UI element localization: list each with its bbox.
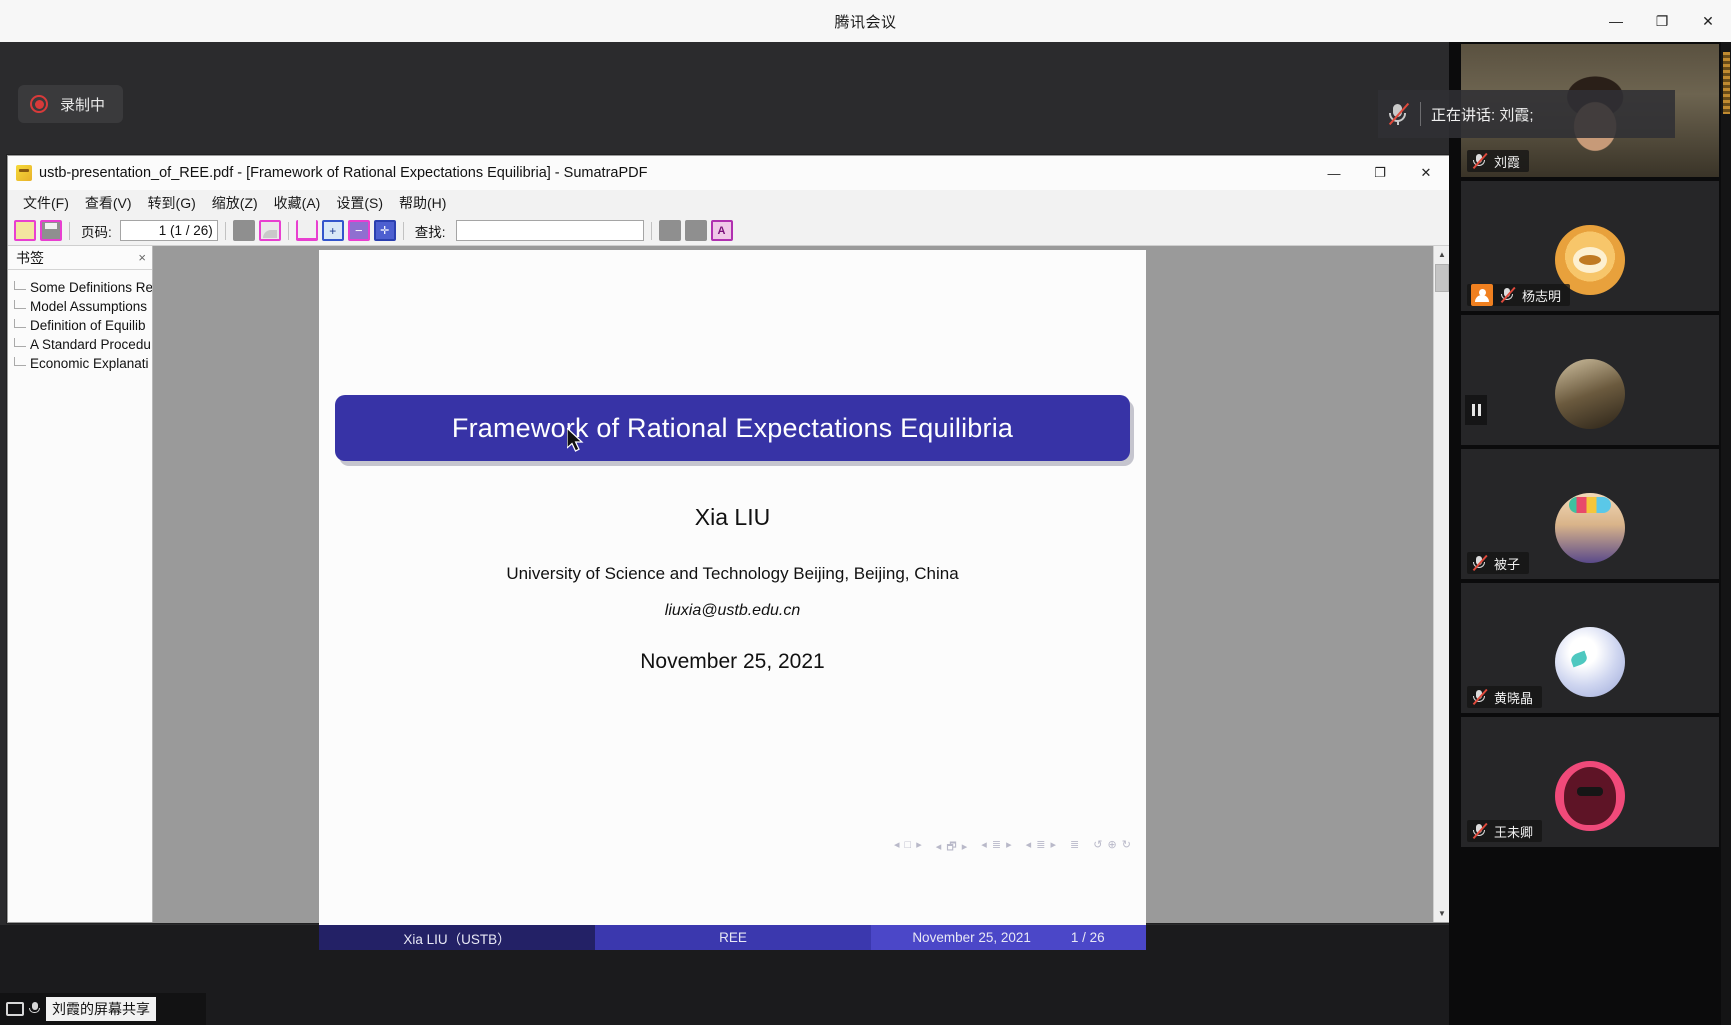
bookmark-item[interactable]: Definition of Equilib xyxy=(8,316,152,335)
mouse-cursor-icon xyxy=(567,428,587,456)
bookmark-item[interactable]: Some Definitions Re xyxy=(8,278,152,297)
bookmarks-header: 书签 × xyxy=(8,246,152,270)
active-speaker-banner: 正在讲话: 刘霞; xyxy=(1378,90,1675,138)
menu-settings[interactable]: 设置(S) xyxy=(329,190,390,216)
mic-muted-icon xyxy=(1471,822,1488,840)
slide-affiliation: University of Science and Technology Bei… xyxy=(319,564,1146,584)
zoom-out-icon[interactable] xyxy=(348,220,370,241)
zoom-in-icon[interactable] xyxy=(374,220,396,241)
find-next-icon[interactable] xyxy=(685,220,707,241)
slide-footer: Xia LIU（USTB） REE November 25, 2021 1 / … xyxy=(319,925,1146,950)
menu-view[interactable]: 查看(V) xyxy=(78,190,139,216)
record-dot-icon xyxy=(30,95,48,113)
mic-muted-icon xyxy=(1471,554,1488,572)
page-number-input[interactable]: 1 (1 / 26) xyxy=(120,220,218,241)
participant-strip[interactable]: 刘霞 杨志明 被子 xyxy=(1449,42,1731,1025)
pdf-window-title: ustb-presentation_of_REE.pdf - [Framewor… xyxy=(39,165,647,181)
slide-date: November 25, 2021 xyxy=(319,650,1146,674)
bookmark-label: Economic Explanati xyxy=(30,356,149,371)
pdf-body: 书签 × Some Definitions Re Model Assumptio… xyxy=(8,246,1449,922)
bookmark-item[interactable]: A Standard Procedu xyxy=(8,335,152,354)
close-icon[interactable]: × xyxy=(138,250,146,265)
mic-muted-icon xyxy=(1499,286,1516,304)
menu-file[interactable]: 文件(F) xyxy=(16,190,76,216)
participant-name-chip: 黄晓晶 xyxy=(1467,686,1542,708)
participant-name-chip: 刘霞 xyxy=(1467,150,1529,172)
bookmark-label: Definition of Equilib xyxy=(30,318,146,333)
slide-footer-author: Xia LIU（USTB） xyxy=(319,925,595,950)
meeting-minimize-button[interactable]: — xyxy=(1593,0,1639,42)
scrollbar-thumb[interactable] xyxy=(1723,52,1730,114)
participant-name: 刘霞 xyxy=(1494,152,1520,171)
meeting-maximize-button[interactable]: ❐ xyxy=(1639,0,1685,42)
menu-favorites[interactable]: 收藏(A) xyxy=(267,190,328,216)
find-prev-icon[interactable] xyxy=(659,220,681,241)
pdf-titlebar[interactable]: ustb-presentation_of_REE.pdf - [Framewor… xyxy=(8,156,1449,190)
sumatrapdf-window: ustb-presentation_of_REE.pdf - [Framewor… xyxy=(7,155,1450,923)
tree-branch-icon xyxy=(14,357,26,366)
single-page-icon[interactable] xyxy=(259,220,281,241)
avatar xyxy=(1555,493,1625,563)
avatar xyxy=(1555,359,1625,429)
slide-footer-right: November 25, 2021 1 / 26 xyxy=(871,925,1146,950)
pdf-document-viewport[interactable]: Framework of Rational Expectations Equil… xyxy=(153,246,1449,922)
document-scrollbar[interactable]: ▲ ▼ xyxy=(1433,246,1449,922)
slide-footer-page: 1 / 26 xyxy=(1071,930,1105,945)
nav-glyph-back-icon[interactable]: ≣ xyxy=(1070,838,1080,857)
screen-share-label: 刘霞的屏幕共享 xyxy=(46,997,156,1021)
slide-title-text: Framework of Rational Expectations Equil… xyxy=(452,413,1013,444)
menu-help[interactable]: 帮助(H) xyxy=(392,190,453,216)
toolbar-divider xyxy=(403,222,404,240)
pdf-close-button[interactable]: ✕ xyxy=(1403,156,1449,190)
open-file-icon[interactable] xyxy=(14,220,36,241)
pdf-window-controls: — ❐ ✕ xyxy=(1311,156,1449,190)
pdf-maximize-button[interactable]: ❐ xyxy=(1357,156,1403,190)
screen-root: 腾讯会议 — ❐ ✕ 录制中 正在讲话: 刘霞; ustb-presentati… xyxy=(0,0,1731,1025)
avatar xyxy=(1555,761,1625,831)
participant-name: 王未卿 xyxy=(1494,822,1533,841)
toolbar-divider xyxy=(225,222,226,240)
participant-name: 被子 xyxy=(1494,554,1520,573)
participant-tile[interactable]: 杨志明 xyxy=(1461,181,1719,311)
save-file-icon[interactable] xyxy=(40,220,62,241)
pdf-page: Framework of Rational Expectations Equil… xyxy=(319,250,1146,950)
beamer-nav-icons[interactable]: ◂ □ ▸ ◂ 🗗 ▸ ◂ ≣ ▸ ◂ ≣ ▸ ≣ ↺ ⊕ ↻ xyxy=(894,838,1132,857)
divider xyxy=(1420,102,1421,126)
participant-tile[interactable]: 王未卿 xyxy=(1461,717,1719,847)
participant-tile[interactable]: 被子 xyxy=(1461,449,1719,579)
participant-scrollbar[interactable] xyxy=(1721,42,1731,1025)
participant-tile[interactable]: 黄晓晶 xyxy=(1461,583,1719,713)
nav-glyph-frame-icon[interactable]: ◂ □ ▸ xyxy=(894,838,923,857)
host-icon xyxy=(1471,284,1493,306)
scrollbar-thumb[interactable] xyxy=(1435,264,1449,292)
active-speaker-label: 正在讲话: 刘霞; xyxy=(1431,104,1534,125)
menu-goto[interactable]: 转到(G) xyxy=(141,190,203,216)
participant-name-chip: 王未卿 xyxy=(1467,820,1542,842)
tree-branch-icon xyxy=(14,300,26,309)
slide-footer-short-title: REE xyxy=(595,925,871,950)
toolbar-divider xyxy=(651,222,652,240)
slide-author: Xia LIU xyxy=(319,504,1146,531)
print-icon[interactable] xyxy=(233,220,255,241)
mic-muted-icon xyxy=(1386,101,1410,127)
participant-name: 杨志明 xyxy=(1522,286,1561,305)
meeting-close-button[interactable]: ✕ xyxy=(1685,0,1731,42)
nav-glyph-subsection-icon[interactable]: ◂ 🗗 ▸ xyxy=(936,838,968,857)
scroll-down-icon[interactable]: ▼ xyxy=(1434,905,1450,922)
pdf-menubar: 文件(F) 查看(V) 转到(G) 缩放(Z) 收藏(A) 设置(S) 帮助(H… xyxy=(8,190,1449,216)
mic-muted-icon xyxy=(1471,688,1488,706)
bookmark-item[interactable]: Economic Explanati xyxy=(8,354,152,373)
bookmark-item[interactable]: Model Assumptions xyxy=(8,297,152,316)
participant-name-chip: 被子 xyxy=(1467,552,1529,574)
sumatrapdf-app-icon xyxy=(16,165,32,181)
nav-glyph-doc-icon[interactable]: ◂ ≣ ▸ xyxy=(1026,838,1057,857)
meeting-title: 腾讯会议 xyxy=(834,11,896,32)
mic-muted-icon xyxy=(1471,152,1488,170)
tree-branch-icon xyxy=(14,338,26,347)
meeting-titlebar: 腾讯会议 — ❐ ✕ xyxy=(0,0,1731,42)
participant-name: 黄晓晶 xyxy=(1494,688,1533,707)
fit-page-icon[interactable] xyxy=(322,220,344,241)
screen-share-icon xyxy=(6,1002,24,1016)
recording-label: 录制中 xyxy=(60,94,105,115)
slide-title-banner: Framework of Rational Expectations Equil… xyxy=(335,395,1130,461)
bookmarks-list: Some Definitions Re Model Assumptions De… xyxy=(8,270,152,373)
toolbar-divider xyxy=(69,222,70,240)
fit-width-icon[interactable] xyxy=(296,220,318,241)
mic-icon xyxy=(28,1001,42,1017)
video-paused-icon xyxy=(1465,395,1487,425)
bookmark-label: Some Definitions Re xyxy=(30,280,152,295)
scroll-up-icon[interactable]: ▲ xyxy=(1434,246,1450,263)
find-label: 查找: xyxy=(415,221,446,241)
toolbar-divider xyxy=(288,222,289,240)
page-number-label: 页码: xyxy=(81,221,112,241)
meeting-window-controls: — ❐ ✕ xyxy=(1593,0,1731,42)
avatar xyxy=(1555,627,1625,697)
pdf-minimize-button[interactable]: — xyxy=(1311,156,1357,190)
recording-indicator[interactable]: 录制中 xyxy=(18,85,123,123)
participant-name-chip: 杨志明 xyxy=(1467,284,1570,306)
bookmark-label: A Standard Procedu xyxy=(30,337,151,352)
slide-email: liuxia@ustb.edu.cn xyxy=(319,602,1146,620)
tree-branch-icon xyxy=(14,319,26,328)
menu-zoom[interactable]: 缩放(Z) xyxy=(205,190,265,216)
tree-branch-icon xyxy=(14,281,26,290)
nav-glyph-zoom-icon[interactable]: ↺ ⊕ ↻ xyxy=(1093,838,1132,857)
bookmarks-panel: 书签 × Some Definitions Re Model Assumptio… xyxy=(8,246,153,922)
pdf-toolbar: 页码: 1 (1 / 26) 查找: xyxy=(8,216,1449,246)
nav-glyph-section-icon[interactable]: ◂ ≣ ▸ xyxy=(981,838,1012,857)
find-input[interactable] xyxy=(456,220,644,241)
screen-share-indicator: 刘霞的屏幕共享 xyxy=(0,993,206,1025)
match-case-icon[interactable] xyxy=(711,220,733,241)
slide-footer-date: November 25, 2021 xyxy=(912,930,1031,945)
bookmark-label: Model Assumptions xyxy=(30,299,147,314)
participant-tile[interactable] xyxy=(1461,315,1719,445)
bookmarks-title: 书签 xyxy=(16,248,44,268)
